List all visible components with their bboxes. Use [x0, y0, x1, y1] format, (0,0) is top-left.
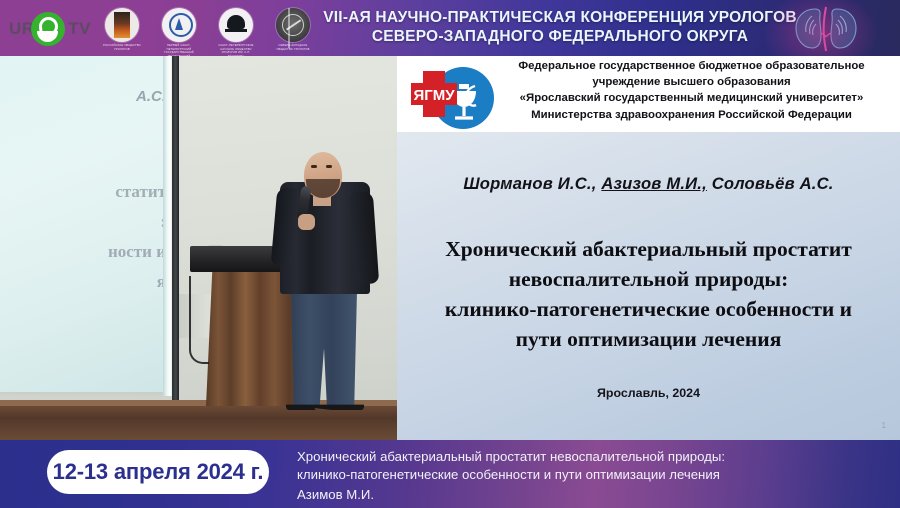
slide-city-year: Ярославль, 2024 [397, 386, 900, 400]
talk-title-line-2: клинико-патогенетические особенности и п… [297, 466, 877, 484]
organization-line-2: учреждение высшего образования [489, 74, 894, 90]
projection-screen: А.С. статит : ности и я [0, 56, 174, 392]
bottom-info-bar: 12-13 апреля 2024 г. Хронический абактер… [0, 440, 900, 508]
slide-title: Хронический абактериальный простатит нев… [413, 234, 884, 354]
urotv-logo[interactable]: URO TV [8, 12, 92, 46]
partner-logo-2-icon [162, 8, 196, 42]
speaker-eye-right [326, 165, 332, 168]
speaker-hand [298, 214, 315, 230]
header-divider [288, 8, 290, 48]
speaker-person [268, 136, 384, 406]
kidneys-illustration-icon [774, 3, 878, 53]
slide-page-number: 1 [882, 421, 886, 430]
svg-text:ЯГМУ: ЯГМУ [413, 87, 455, 104]
slide-header-box: ЯГМУ Федеральное государственное бюджетн… [397, 56, 900, 132]
partner-logo-1: РОССИЙСКОЕ ОБЩЕСТВО УРОЛОГОВ [100, 6, 144, 51]
projection-screen-edge [172, 56, 179, 400]
broadcast-stage: URO TV РОССИЙСКОЕ ОБЩЕСТВО УРОЛОГОВ ПЕРВ… [0, 0, 900, 508]
room-floor [0, 406, 397, 440]
author-first: Шорманов И.С., [463, 174, 601, 193]
partner-logo-1-icon [105, 8, 139, 42]
slide-title-line-1: Хронический абактериальный простатит [413, 234, 884, 264]
partner-logo-3-icon [219, 8, 253, 42]
conference-title-line2: СЕВЕРО-ЗАПАДНОГО ФЕДЕРАЛЬНОГО ОКРУГА [300, 27, 820, 46]
partner-logo-2: ПЕРВЫЙ САНКТ-ПЕТЕРБУРГСКИЙ ГОСУДАРСТВЕНН… [157, 6, 201, 56]
speaker-arm-right [349, 191, 379, 284]
partner-logo-3-caption: САНКТ-ПЕТЕРБУРГСКОЕ НАУЧНОЕ ОБЩЕСТВО УРО… [214, 44, 258, 56]
live-video-feed[interactable]: А.С. статит : ности и я [0, 56, 397, 440]
organization-line-1: Федеральное государственное бюджетное об… [489, 58, 894, 74]
conference-date-badge: 12-13 апреля 2024 г. [47, 450, 269, 494]
organization-name: Федеральное государственное бюджетное об… [489, 58, 894, 123]
partner-logo-1-caption: РОССИЙСКОЕ ОБЩЕСТВО УРОЛОГОВ [100, 44, 144, 51]
partner-logo-2-caption: ПЕРВЫЙ САНКТ-ПЕТЕРБУРГСКИЙ ГОСУДАРСТВЕНН… [157, 44, 201, 56]
current-talk-info: Хронический абактериальный простатит нев… [297, 448, 877, 504]
conference-title-line1: VII-АЯ НАУЧНО-ПРАКТИЧЕСКАЯ КОНФЕРЕНЦИЯ У… [300, 8, 820, 27]
urotv-logo-right-text: TV [68, 19, 91, 39]
slide-title-line-2: невоспалительной природы: [413, 264, 884, 294]
projected-title-fragment-1: статит [115, 182, 166, 202]
yagmu-university-logo-icon: ЯГМУ [403, 58, 495, 132]
partner-logos-row: РОССИЙСКОЕ ОБЩЕСТВО УРОЛОГОВ ПЕРВЫЙ САНК… [100, 6, 315, 56]
slide-title-line-3: клинико-патогенетические особенности и [413, 294, 884, 324]
author-third: Соловьёв А.С. [707, 174, 834, 193]
leaf-circle-logo-icon [31, 12, 65, 46]
presentation-slide[interactable]: ЯГМУ Федеральное государственное бюджетн… [397, 56, 900, 440]
podium-cable [189, 276, 209, 364]
conference-date-text: 12-13 апреля 2024 г. [53, 459, 264, 485]
partner-logo-3: САНКТ-ПЕТЕРБУРГСКОЕ НАУЧНОЕ ОБЩЕСТВО УРО… [214, 6, 258, 56]
conference-header-band: URO TV РОССИЙСКОЕ ОБЩЕСТВО УРОЛОГОВ ПЕРВ… [0, 0, 900, 56]
speaker-eye-left [311, 165, 317, 168]
speaker-jeans [288, 286, 360, 406]
organization-line-4: Министерства здравоохранения Российской … [489, 107, 894, 123]
projected-title-fragment-3: ности и [108, 242, 166, 262]
author-presenting: Азизов М.И., [601, 174, 707, 193]
organization-line-3: «Ярославский государственный медицинский… [489, 90, 894, 106]
projected-authors-fragment: А.С. [136, 88, 166, 105]
conference-title: VII-АЯ НАУЧНО-ПРАКТИЧЕСКАЯ КОНФЕРЕНЦИЯ У… [300, 8, 820, 46]
talk-title-line-1: Хронический абактериальный простатит нев… [297, 448, 877, 466]
talk-speaker-name: Азимов М.И. [297, 486, 877, 504]
slide-authors: Шорманов И.С., Азизов М.И., Соловьёв А.С… [397, 174, 900, 194]
slide-title-line-4: пути оптимизации лечения [413, 324, 884, 354]
